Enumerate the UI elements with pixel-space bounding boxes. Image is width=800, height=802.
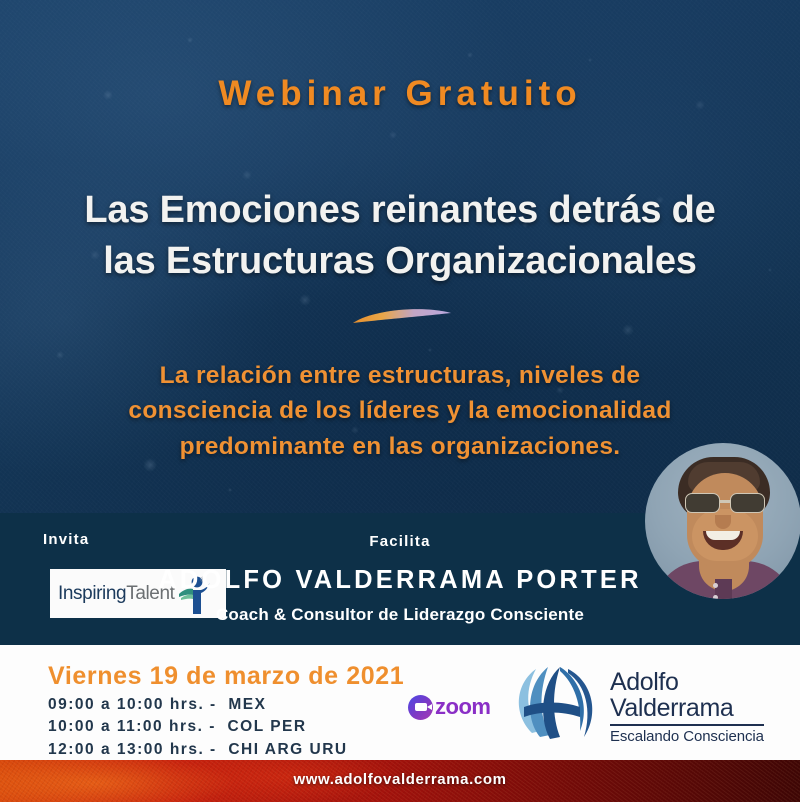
- speaker-role: Coach & Consultor de Liderazgo Conscient…: [0, 605, 800, 625]
- portrait-button-1: [713, 583, 718, 588]
- webinar-poster: Webinar Gratuito Las Emociones reinantes…: [0, 0, 800, 802]
- subtitle-text: La relación entre estructuras, niveles d…: [70, 358, 730, 464]
- title-line-1: Las Emociones reinantes detrás de: [40, 185, 760, 236]
- portrait-sunglasses: [685, 493, 765, 514]
- portrait-lens-right: [730, 493, 765, 513]
- brand-line-1: Adolfo: [610, 670, 764, 696]
- time-row-2: 10:00 a 11:00 hrs. - COL PER: [48, 716, 348, 738]
- footer-url[interactable]: www.adolfovalderrama.com: [0, 771, 800, 788]
- zoom-wordmark: zoom: [435, 694, 490, 720]
- subtitle-line-3: predominante en las organizaciones.: [70, 429, 730, 464]
- portrait-teeth: [706, 531, 740, 540]
- time-row-1: 09:00 a 10:00 hrs. - MEX: [48, 694, 348, 716]
- portrait-button-2: [713, 595, 718, 599]
- brand-text: Adolfo Valderrama Escalando Consciencia: [610, 670, 764, 745]
- event-times: 09:00 a 10:00 hrs. - MEX 10:00 a 11:00 h…: [48, 694, 348, 761]
- brand-logo: Adolfo Valderrama Escalando Consciencia: [510, 661, 764, 754]
- subtitle-line-2: consciencia de los líderes y la emociona…: [70, 393, 730, 428]
- speaker-portrait: [645, 443, 800, 599]
- brand-divider: [610, 724, 764, 726]
- portrait-lens-left: [685, 493, 720, 513]
- page-title: Las Emociones reinantes detrás de las Es…: [40, 185, 760, 287]
- brand-tagline: Escalando Consciencia: [610, 728, 764, 745]
- zoom-camera-icon: [408, 695, 433, 720]
- eyebrow-label: Webinar Gratuito: [0, 74, 800, 114]
- brand-line-2: Valderrama: [610, 696, 764, 722]
- av-monogram-icon: [510, 661, 602, 754]
- swoosh-divider-icon: [350, 306, 454, 328]
- subtitle-line-1: La relación entre estructuras, niveles d…: [70, 358, 730, 393]
- zoom-logo: zoom: [408, 694, 490, 720]
- time-row-3: 12:00 a 13:00 hrs. - CHI ARG URU: [48, 739, 348, 761]
- title-line-2: las Estructuras Organizacionales: [40, 236, 760, 287]
- event-date: Viernes 19 de marzo de 2021: [48, 662, 404, 691]
